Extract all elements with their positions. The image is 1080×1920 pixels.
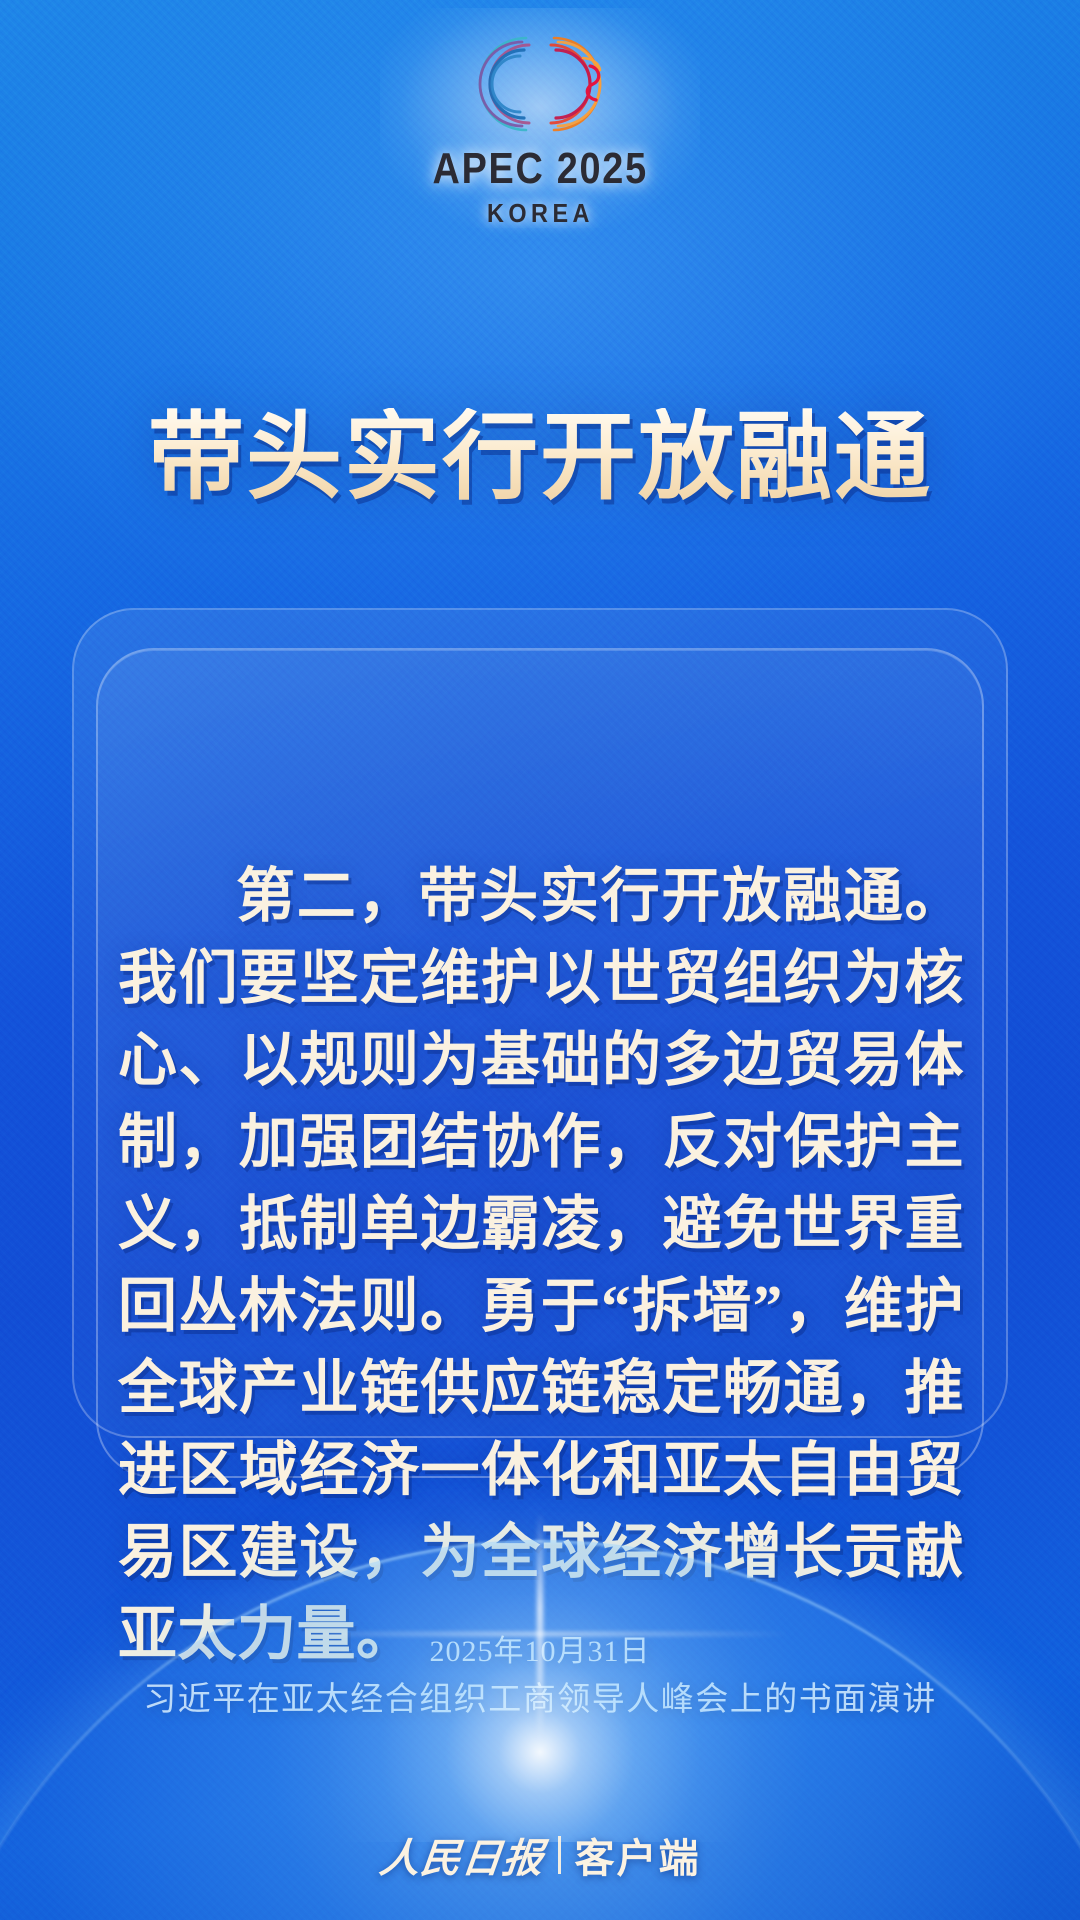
apec-logo-title: APEC 2025 [432,144,647,194]
brand-product-name: 客户端 [575,1826,701,1884]
poster-headline: 带头实行开放融通 [0,408,1080,509]
attribution-block: 2025年10月31日 习近平在亚太经合组织工商领导人峰会上的书面演讲 [0,1630,1080,1726]
quote-body-text: 第二，带头实行开放融通。我们要坚定维护以世贸组织为核心、以规则为基础的多边贸易体… [118,855,964,1675]
apec-logo-block: APEC 2025 KOREA [0,28,1080,229]
apec-logo-subtitle: KOREA [486,198,593,229]
attribution-source: 习近平在亚太经合组织工商领导人峰会上的书面演讲 [0,1674,1080,1726]
brand-divider [558,1836,561,1874]
attribution-date: 2025年10月31日 [0,1630,1080,1674]
poster-root: APEC 2025 KOREA 带头实行开放融通 第二，带头实行开放融通。我们要… [0,0,1080,1920]
apec-logo-mark [450,28,630,140]
apec-emblem-icon [450,28,630,140]
footer-brand: 人民日报 客户端 [0,1826,1080,1884]
brand-name-logo: 人民日报 [376,1826,546,1884]
